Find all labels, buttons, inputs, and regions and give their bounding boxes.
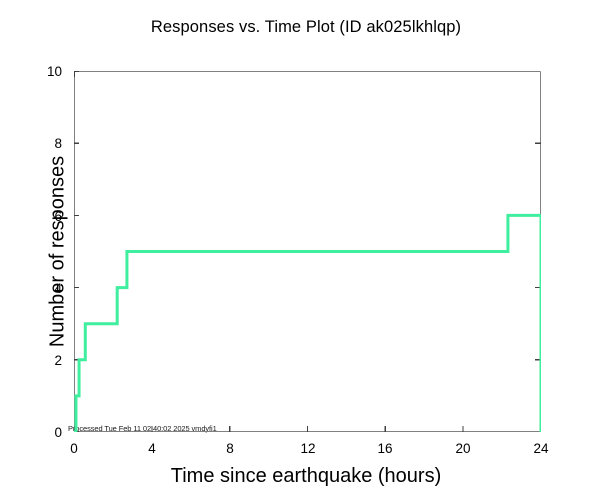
x-tick-label-8: 8 (210, 441, 250, 456)
x-tick-label-0: 0 (54, 441, 94, 456)
y-tick-label-2: 2 (22, 353, 62, 368)
y-tick-label-4: 4 (22, 281, 62, 296)
y-tick-label-6: 6 (22, 209, 62, 224)
chart-figure: Responses vs. Time Plot (ID ak025lkhlqp)… (0, 0, 612, 504)
x-tick-label-20: 20 (443, 441, 483, 456)
plot-area (74, 71, 541, 432)
chart-title: Responses vs. Time Plot (ID ak025lkhlqp) (0, 18, 612, 37)
y-tick-label-0: 0 (22, 425, 62, 440)
response-step-line (74, 215, 541, 432)
x-tick-label-12: 12 (288, 441, 328, 456)
y-tick-label-10: 10 (22, 64, 62, 79)
plot-canvas (74, 71, 541, 432)
x-tick-label-24: 24 (521, 441, 561, 456)
x-tick-label-4: 4 (132, 441, 172, 456)
x-tick-label-16: 16 (365, 441, 405, 456)
y-axis-label: Number of responses (47, 82, 70, 422)
y-tick-label-8: 8 (22, 136, 62, 151)
x-axis-label: Time since earthquake (hours) (0, 465, 612, 488)
